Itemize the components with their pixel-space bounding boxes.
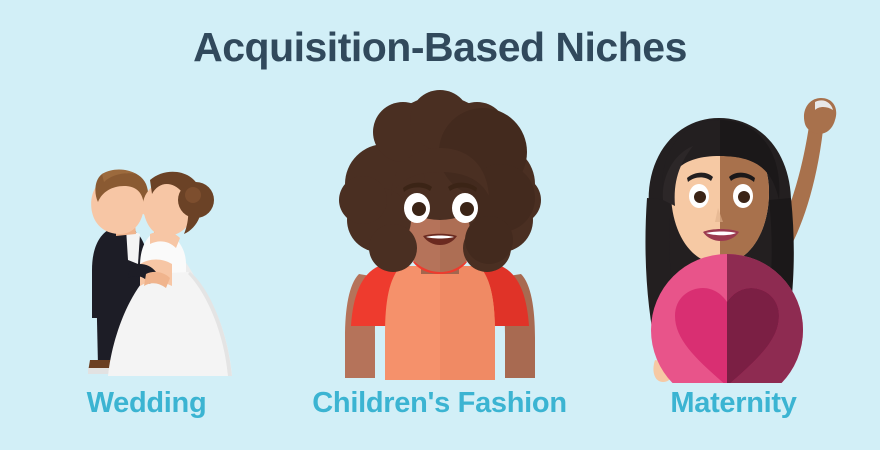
page-title: Acquisition-Based Niches [0,24,880,71]
niche-label-wedding: Wedding [0,387,293,420]
niche-card-children: Children's Fashion [293,88,586,428]
niche-label-children: Children's Fashion [293,387,586,420]
niche-card-wedding: Wedding [0,88,293,428]
pregnant-woman-illustration [587,88,880,383]
niche-card-maternity: Maternity [587,88,880,428]
niche-label-maternity: Maternity [587,387,880,420]
child-afro-illustration [293,88,586,383]
wedding-couple-illustration [0,88,293,383]
infographic-canvas: Acquisition-Based Niches [0,0,880,450]
